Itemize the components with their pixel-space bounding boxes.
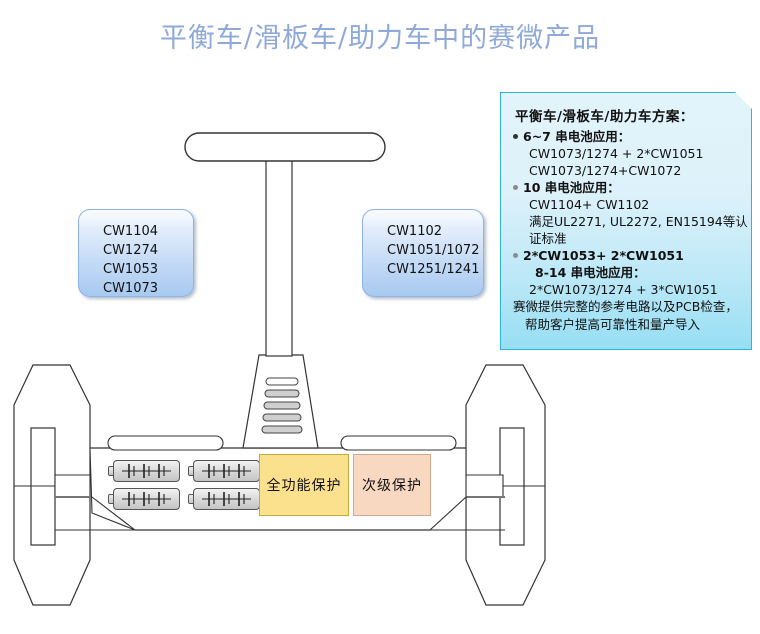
battery-cell-icon: [108, 460, 180, 482]
console-slot-2: [265, 390, 299, 397]
callout-left-line: CW1274: [103, 241, 193, 260]
battery-cell-symbol: [193, 460, 260, 482]
info-panel-bullet: 6~7 串电池应用：: [511, 128, 745, 145]
steering-pole: [266, 158, 292, 356]
callout-left-line: CW1053: [103, 260, 193, 279]
info-panel-subline: 2*CW1073/1274 + 3*CW1051: [511, 281, 745, 298]
info-panel-subline: CW1073/1274+CW1072: [511, 162, 745, 179]
callout-right-line: CW1102: [387, 222, 483, 241]
battery-cell-symbol: [113, 460, 180, 482]
handlebar: [185, 133, 385, 161]
console-slot-3: [264, 402, 300, 409]
console-slot-4: [263, 414, 301, 421]
info-panel-body: 6~7 串电池应用：CW1073/1274 + 2*CW1051CW1073/1…: [511, 128, 745, 334]
callout-right-line: CW1051/1072: [387, 241, 483, 260]
info-panel-subline: 证标准: [511, 230, 745, 247]
info-panel-subline: 8-14 串电池应用：: [511, 264, 745, 281]
console-slot-5: [262, 426, 302, 433]
battery-cell-icon: [108, 488, 180, 510]
info-panel-bullet: 2*CW1053+ 2*CW1051: [511, 247, 745, 264]
battery-cell-symbol: [193, 488, 260, 510]
battery-cell-icon: [188, 488, 260, 510]
secondary-protection-block: 次级保护: [353, 454, 431, 516]
info-panel-footnote: 帮助客户提高可靠性和量产导入: [511, 316, 745, 334]
callout-right-line: CW1251/1241: [387, 260, 483, 279]
info-panel-subline: CW1073/1274 + 2*CW1051: [511, 145, 745, 162]
console-slot-1: [266, 378, 298, 385]
right-product-callout: CW1102 CW1051/1072 CW1251/1241: [362, 209, 484, 297]
solution-info-panel: 平衡车/滑板车/助力车方案： 6~7 串电池应用：CW1073/1274 + 2…: [500, 92, 752, 350]
battery-cell-icon: [188, 460, 260, 482]
callout-left-line: CW1104: [103, 222, 193, 241]
info-panel-subline: 满足UL2271, UL2272, EN15194等认: [511, 213, 745, 230]
right-footpad: [341, 436, 456, 450]
right-axle: [466, 475, 503, 497]
callout-left-line: CW1073: [103, 279, 193, 298]
left-product-callout: CW1104 CW1274 CW1053 CW1073: [78, 209, 194, 297]
full-protection-block: 全功能保护: [259, 454, 349, 516]
info-panel-bullet: 10 串电池应用：: [511, 179, 745, 196]
info-panel-title: 平衡车/滑板车/助力车方案：: [515, 105, 745, 125]
left-axle: [55, 475, 90, 497]
left-footpad: [108, 436, 223, 450]
info-panel-footnote: 赛微提供完整的参考电路以及PCB检查，: [511, 298, 745, 316]
battery-cell-symbol: [113, 488, 180, 510]
info-panel-subline: CW1104+ CW1102: [511, 196, 745, 213]
